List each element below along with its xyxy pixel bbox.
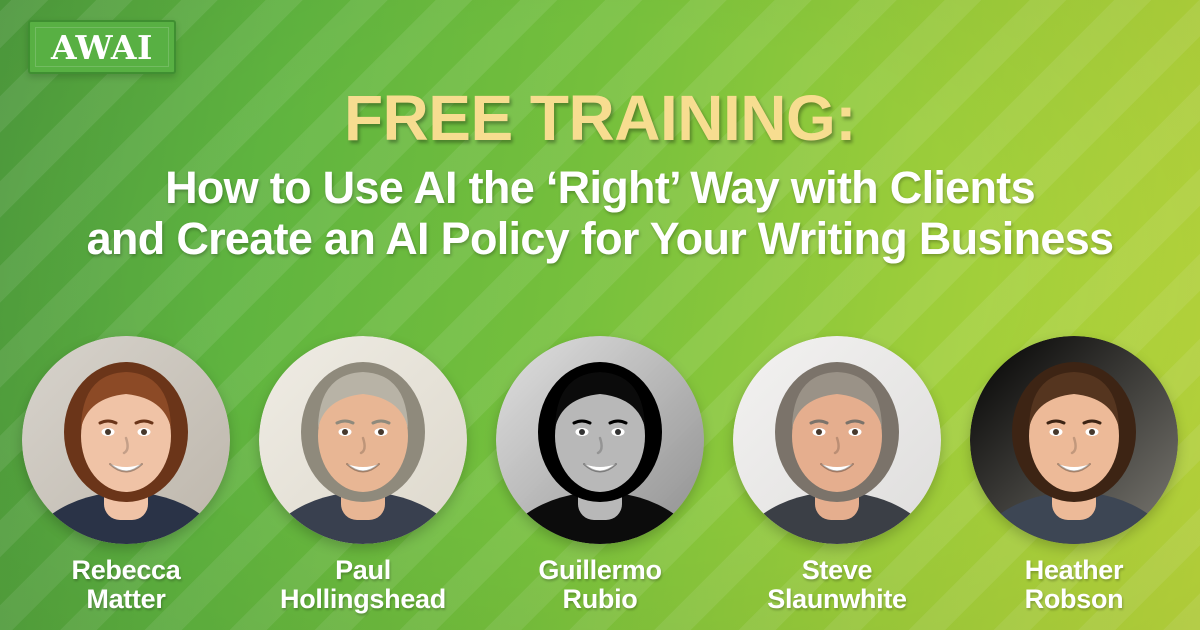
presenter-rebecca: Rebecca Matter <box>13 336 239 614</box>
subtitle-line-1: How to Use AI the ‘Right’ Way with Clien… <box>0 163 1200 213</box>
subtitle-line-2: and Create an AI Policy for Your Writing… <box>0 214 1200 264</box>
presenter-name: Paul Hollingshead <box>280 556 446 614</box>
presenter-guillermo: Guillermo Rubio <box>487 336 713 614</box>
presenter-name: Guillermo Rubio <box>538 556 661 614</box>
headshot-paul-hollingshead <box>259 336 467 544</box>
headshot-heather-robson <box>970 336 1178 544</box>
presenter-heather: Heather Robson <box>961 336 1187 614</box>
presenter-name: Steve Slaunwhite <box>767 556 907 614</box>
presenter-paul: Paul Hollingshead <box>250 336 476 614</box>
presenter-name: Rebecca Matter <box>72 556 181 614</box>
headshot-steve-slaunwhite <box>733 336 941 544</box>
eyebrow-free-training: FREE TRAINING: <box>0 86 1200 151</box>
headshot-guillermo-rubio <box>496 336 704 544</box>
presenter-row: Rebecca Matter <box>0 336 1200 614</box>
awai-logo[interactable]: AWAI <box>28 20 176 74</box>
headshot-rebecca-matter <box>22 336 230 544</box>
presenter-name: Heather Robson <box>1025 556 1124 614</box>
logo-text: AWAI <box>51 31 153 64</box>
presenter-steve: Steve Slaunwhite <box>724 336 950 614</box>
headline-block: FREE TRAINING: How to Use AI the ‘Right’… <box>0 86 1200 264</box>
subtitle-block: How to Use AI the ‘Right’ Way with Clien… <box>0 163 1200 264</box>
